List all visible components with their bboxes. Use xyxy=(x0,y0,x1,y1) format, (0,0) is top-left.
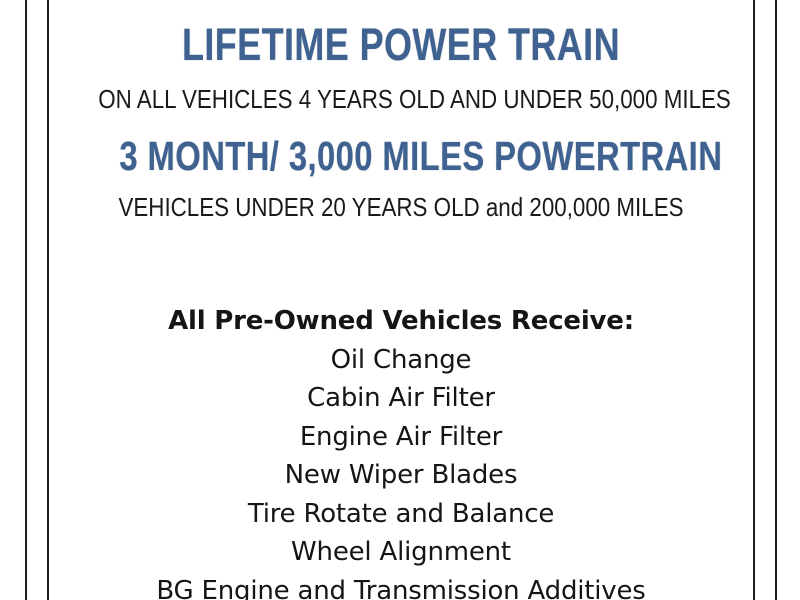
service-item: Tire Rotate and Balance xyxy=(49,495,753,534)
service-item: BG Engine and Transmission Additives xyxy=(49,572,753,600)
warranty-subtitle-3month-powertrain: VEHICLES UNDER 20 YEARS OLD and 200,000 … xyxy=(98,194,703,220)
service-item: New Wiper Blades xyxy=(49,456,753,495)
warranty-title-3month-powertrain: 3 MONTH/ 3,000 MILES POWERTRAIN xyxy=(119,136,682,177)
service-item: Oil Change xyxy=(49,341,753,380)
flyer-page: LIFETIME POWER TRAIN ON ALL VEHICLES 4 Y… xyxy=(0,0,800,600)
service-item: Wheel Alignment xyxy=(49,533,753,572)
warranty-block-3month-powertrain: 3 MONTH/ 3,000 MILES POWERTRAIN VEHICLES… xyxy=(49,136,753,220)
frame-rule-right-inner xyxy=(753,0,755,600)
service-item: Engine Air Filter xyxy=(49,418,753,457)
warranty-title-lifetime-powertrain: LIFETIME POWER TRAIN xyxy=(119,22,682,67)
services-list-heading: All Pre-Owned Vehicles Receive: xyxy=(49,302,753,341)
warranty-block-lifetime-powertrain: LIFETIME POWER TRAIN ON ALL VEHICLES 4 Y… xyxy=(49,22,753,112)
warranty-subtitle-lifetime-powertrain: ON ALL VEHICLES 4 YEARS OLD AND UNDER 50… xyxy=(98,86,703,112)
service-item: Cabin Air Filter xyxy=(49,379,753,418)
flyer-content: LIFETIME POWER TRAIN ON ALL VEHICLES 4 Y… xyxy=(49,0,753,600)
services-list: All Pre-Owned Vehicles Receive: Oil Chan… xyxy=(49,302,753,600)
frame-rule-right-outer xyxy=(775,0,777,600)
frame-rule-left-outer xyxy=(25,0,27,600)
